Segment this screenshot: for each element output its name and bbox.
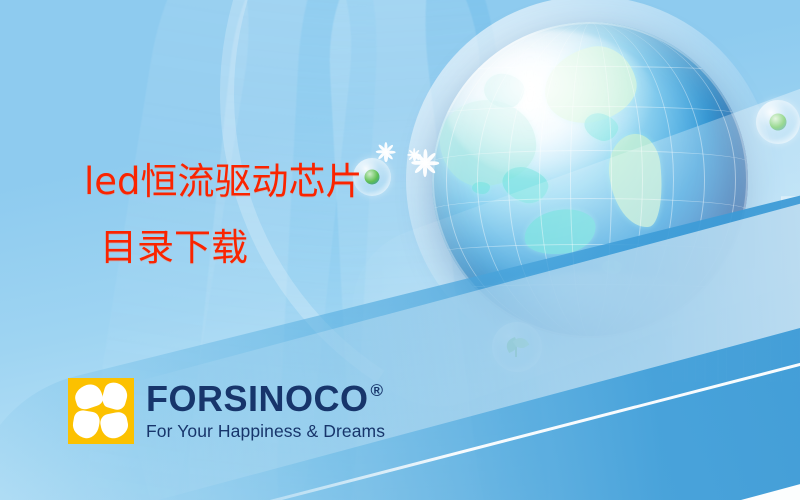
brand-tagline: For Your Happiness & Dreams — [146, 421, 385, 442]
pinwheel-flower-icon — [68, 378, 134, 444]
logo-petal-2 — [100, 380, 130, 412]
headline-line-2: 目录下载 — [100, 229, 363, 266]
brand-name: FORSINOCO — [146, 381, 369, 417]
sparkle-flower-3 — [412, 150, 438, 176]
brand-logo[interactable]: FORSINOCO ® For Your Happiness & Dreams — [68, 378, 385, 444]
headline-block: led恒流驱动芯片 目录下载 — [84, 163, 363, 266]
promo-banner: led恒流驱动芯片 目录下载 FORSINOCO ® For Your Happ… — [0, 0, 800, 500]
headline-line-1: led恒流驱动芯片 — [84, 163, 363, 200]
brand-wordmark: FORSINOCO ® — [146, 381, 385, 417]
mini-globe-icon — [365, 170, 380, 185]
logo-petal-4 — [99, 410, 131, 440]
logo-text-block: FORSINOCO ® For Your Happiness & Dreams — [146, 381, 385, 442]
registered-trademark-icon: ® — [371, 382, 384, 399]
logo-petal-3 — [71, 409, 101, 440]
logo-petal-1 — [72, 381, 105, 411]
